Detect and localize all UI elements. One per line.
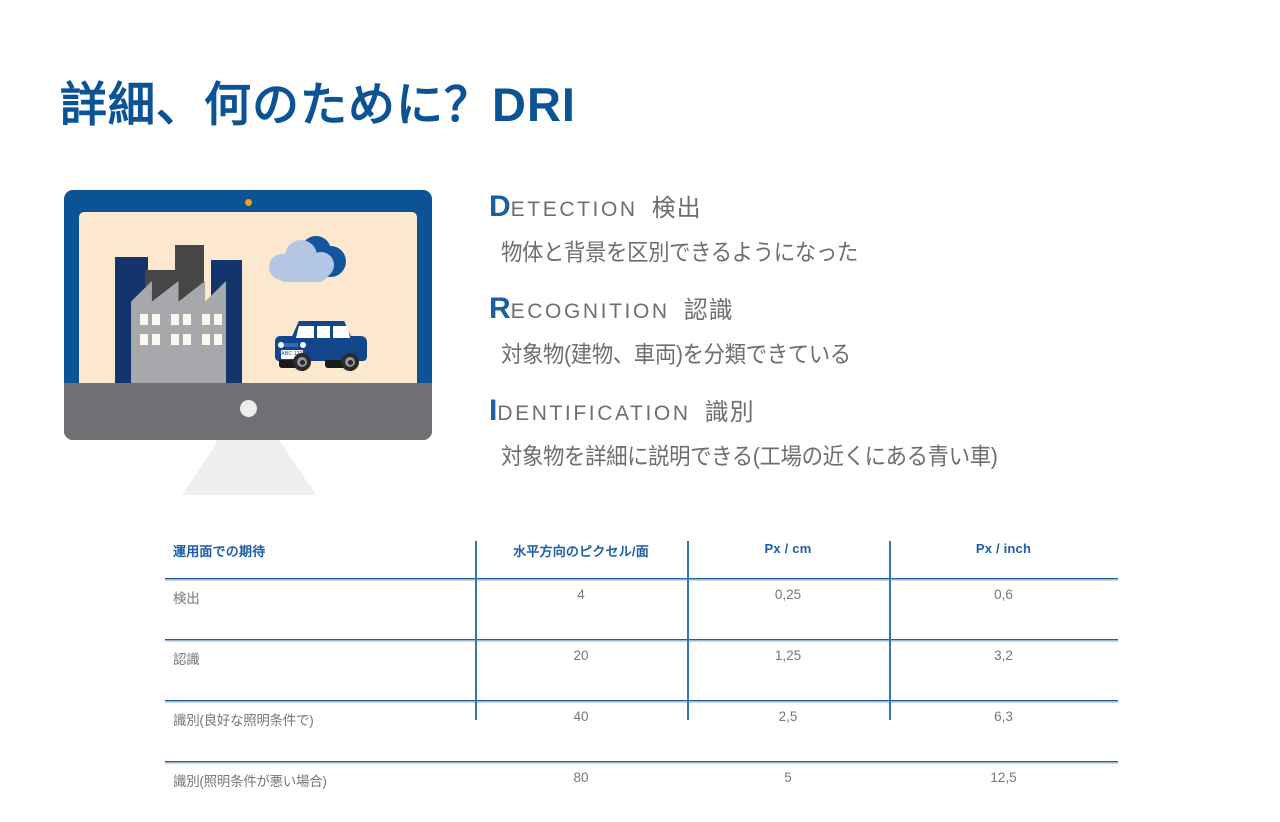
- dri-heading-identification: IDENTIFICATION識別: [489, 394, 1189, 427]
- dri-heading-detection: DETECTION検出: [489, 190, 1189, 223]
- factory-window-icon: [214, 334, 222, 345]
- factory-window-icon: [202, 314, 210, 325]
- table-cell-px-cm: 2,5: [687, 701, 889, 762]
- factory-window-icon: [140, 314, 148, 325]
- table-cell-px-cm: 1,25: [687, 640, 889, 701]
- factory-hall-icon: [131, 281, 226, 384]
- table-header-cell: Px / inch: [889, 541, 1118, 579]
- car-headlight-icon: [300, 342, 306, 348]
- table-cell-pixels: 80: [475, 762, 687, 822]
- dri-definition-list: DETECTION検出 物体と背景を区別できるようになった RECOGNITIO…: [489, 190, 1189, 496]
- dri-block-identification: IDENTIFICATION識別 対象物を詳細に説明できる(工場の近くにある青い…: [489, 394, 1189, 471]
- table-header-row: 運用面での期待 水平方向のピクセル/面 Px / cm Px / inch: [165, 541, 1118, 579]
- car-wheel-icon: [293, 353, 311, 371]
- table-cell-pixels: 40: [475, 701, 687, 762]
- car-wheel-icon: [341, 353, 359, 371]
- dri-term-japanese: 識別: [705, 399, 755, 426]
- slide-root: 詳細、何のために？DRI: [0, 0, 1280, 720]
- table-cell-px-inch: 0,6: [889, 579, 1118, 640]
- dri-term-rest: ECOGNITION: [511, 300, 670, 323]
- dri-description-identification: 対象物を詳細に説明できる(工場の近くにある青い車): [501, 437, 1141, 471]
- car-icon: ABC 123: [275, 320, 373, 372]
- table-row: 認識 20 1,25 3,2: [165, 640, 1118, 701]
- table-cell-px-inch: 12,5: [889, 762, 1118, 822]
- dri-requirements-table: 運用面での期待 水平方向のピクセル/面 Px / cm Px / inch 検出…: [165, 541, 1118, 822]
- dri-block-detection: DETECTION検出 物体と背景を区別できるようになった: [489, 190, 1189, 267]
- dri-term-japanese: 検出: [652, 195, 702, 222]
- table-cell-pixels: 4: [475, 579, 687, 640]
- table-cell-px-inch: 3,2: [889, 640, 1118, 701]
- factory-window-icon: [140, 334, 148, 345]
- dri-heading-recognition: RECOGNITION認識: [489, 292, 1189, 325]
- car-window: [296, 326, 314, 338]
- factory-window-icon: [152, 314, 160, 325]
- table-header-cell: 運用面での期待: [165, 541, 475, 579]
- table-row: 検出 4 0,25 0,6: [165, 579, 1118, 640]
- table-cell-px-cm: 0,25: [687, 579, 889, 640]
- table-header-cell: 水平方向のピクセル/面: [475, 541, 687, 579]
- table-cell-px-inch: 6,3: [889, 701, 1118, 762]
- dri-block-recognition: RECOGNITION認識 対象物(建物、車両)を分類できている: [489, 292, 1189, 369]
- monitor-illustration: ABC 123: [64, 190, 432, 490]
- monitor-power-button-icon[interactable]: [240, 400, 257, 417]
- factory-window-icon: [171, 334, 179, 345]
- dri-term-rest: ETECTION: [511, 198, 638, 221]
- table-column-divider: [687, 541, 689, 720]
- monitor-screen: ABC 123: [79, 212, 417, 384]
- dri-term-japanese: 認識: [684, 297, 734, 324]
- car-stripe: [284, 343, 298, 347]
- table-cell-pixels: 20: [475, 640, 687, 701]
- factory-window-icon: [183, 314, 191, 325]
- dri-initial-letter: R: [489, 292, 511, 325]
- cloud-front-icon: [269, 240, 336, 288]
- monitor-chin: [64, 383, 432, 440]
- table-cell-px-cm: 5: [687, 762, 889, 822]
- table-cell-label: 識別(照明条件が悪い場合): [165, 762, 475, 822]
- dri-term-rest: DENTIFICATION: [497, 402, 690, 425]
- factory-window-icon: [202, 334, 210, 345]
- table-cell-label: 検出: [165, 579, 475, 640]
- table-row: 識別(良好な照明条件で) 40 2,5 6,3: [165, 701, 1118, 762]
- webcam-dot-icon: [245, 199, 252, 206]
- car-window: [317, 326, 330, 338]
- table-column-divider: [475, 541, 477, 720]
- car-window: [333, 326, 350, 338]
- table-cell-label: 認識: [165, 640, 475, 701]
- factory-window-icon: [171, 314, 179, 325]
- monitor-body: ABC 123: [64, 190, 432, 440]
- dri-description-recognition: 対象物(建物、車両)を分類できている: [501, 335, 1141, 369]
- dri-initial-letter: D: [489, 190, 511, 223]
- table-row: 識別(照明条件が悪い場合) 80 5 12,5: [165, 762, 1118, 822]
- table-header-cell: Px / cm: [687, 541, 889, 579]
- factory-window-icon: [214, 314, 222, 325]
- table-cell-label: 識別(良好な照明条件で): [165, 701, 475, 762]
- page-title: 詳細、何のために？DRI: [60, 78, 576, 132]
- dri-description-detection: 物体と背景を区別できるようになった: [501, 233, 1141, 267]
- table-column-divider: [889, 541, 891, 720]
- factory-window-icon: [152, 334, 160, 345]
- factory-window-icon: [183, 334, 191, 345]
